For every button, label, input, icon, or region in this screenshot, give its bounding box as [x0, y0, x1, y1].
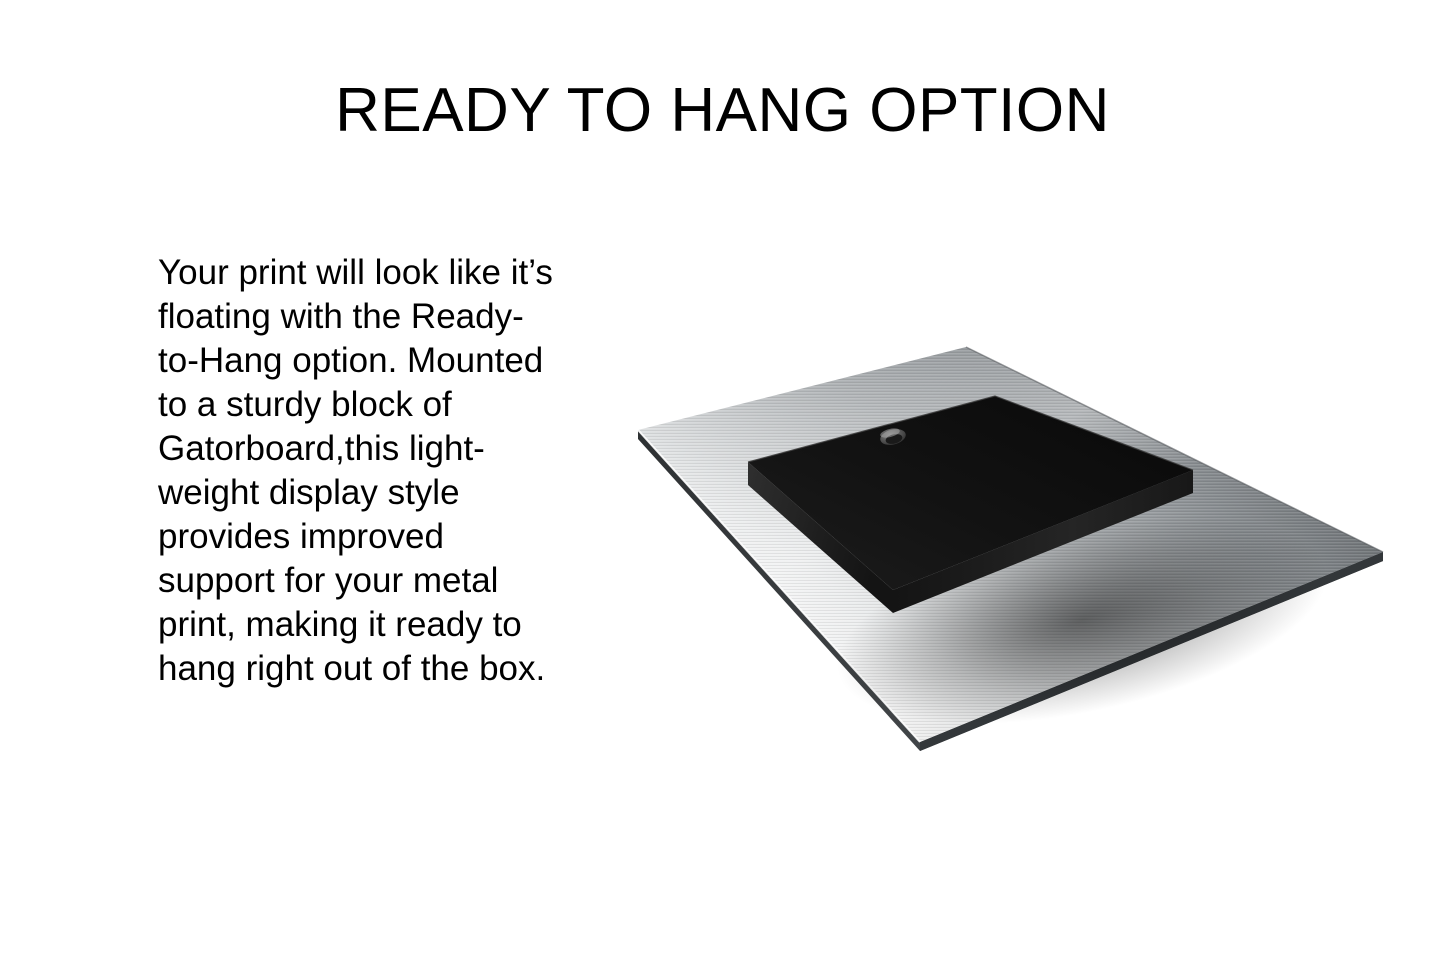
body-paragraph: Your print will look like it’s floating … [158, 251, 558, 691]
slide-canvas: READY TO HANG OPTION Your print will loo… [0, 0, 1445, 963]
mount-diagram-svg [600, 320, 1420, 770]
ready-to-hang-illustration [600, 320, 1420, 770]
page-title: READY TO HANG OPTION [0, 78, 1445, 143]
